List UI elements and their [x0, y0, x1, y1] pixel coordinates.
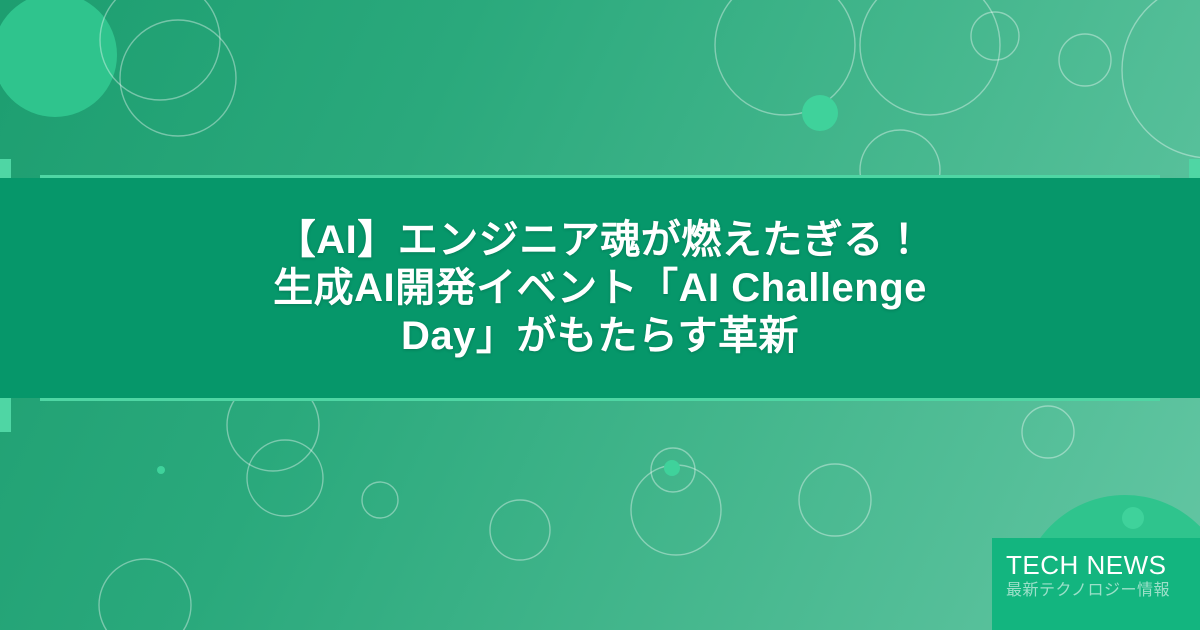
band-rule-top — [40, 175, 1160, 178]
decorative-circle — [664, 460, 680, 476]
decorative-circle — [715, 0, 855, 115]
decorative-circle — [1122, 507, 1144, 529]
decorative-circle — [247, 440, 323, 516]
band-rule-bottom — [40, 398, 1160, 401]
decorative-circle — [490, 500, 550, 560]
decorative-circle — [631, 465, 721, 555]
tech-news-badge: TECH NEWS 最新テクノロジー情報 — [992, 538, 1200, 630]
badge-subtitle: 最新テクノロジー情報 — [1006, 580, 1200, 602]
decorative-circle — [99, 559, 191, 630]
decorative-circle — [651, 448, 695, 492]
decorative-circle — [799, 464, 871, 536]
decorative-circle — [1122, 0, 1200, 158]
band-tick-top-left — [0, 159, 11, 178]
decorative-circle — [157, 466, 165, 474]
decorative-circle — [362, 482, 398, 518]
badge-title: TECH NEWS — [1006, 550, 1200, 580]
band-tick-bottom-left — [0, 398, 11, 432]
og-image-card: 【AI】エンジニア魂が燃えたぎる！ 生成AI開発イベント「AI Challeng… — [0, 0, 1200, 630]
decorative-circle — [971, 12, 1019, 60]
decorative-circle — [1059, 34, 1111, 86]
decorative-circle — [100, 0, 220, 100]
decorative-circle — [1022, 406, 1074, 458]
decorative-circle — [120, 20, 236, 136]
decorative-circle — [860, 0, 1000, 115]
band-tick-top-right — [1189, 159, 1200, 178]
page-title: 【AI】エンジニア魂が燃えたぎる！ 生成AI開発イベント「AI Challeng… — [183, 216, 1017, 360]
decorative-circle — [0, 0, 117, 117]
decorative-circle — [802, 95, 838, 131]
headline-band: 【AI】エンジニア魂が燃えたぎる！ 生成AI開発イベント「AI Challeng… — [0, 178, 1200, 398]
